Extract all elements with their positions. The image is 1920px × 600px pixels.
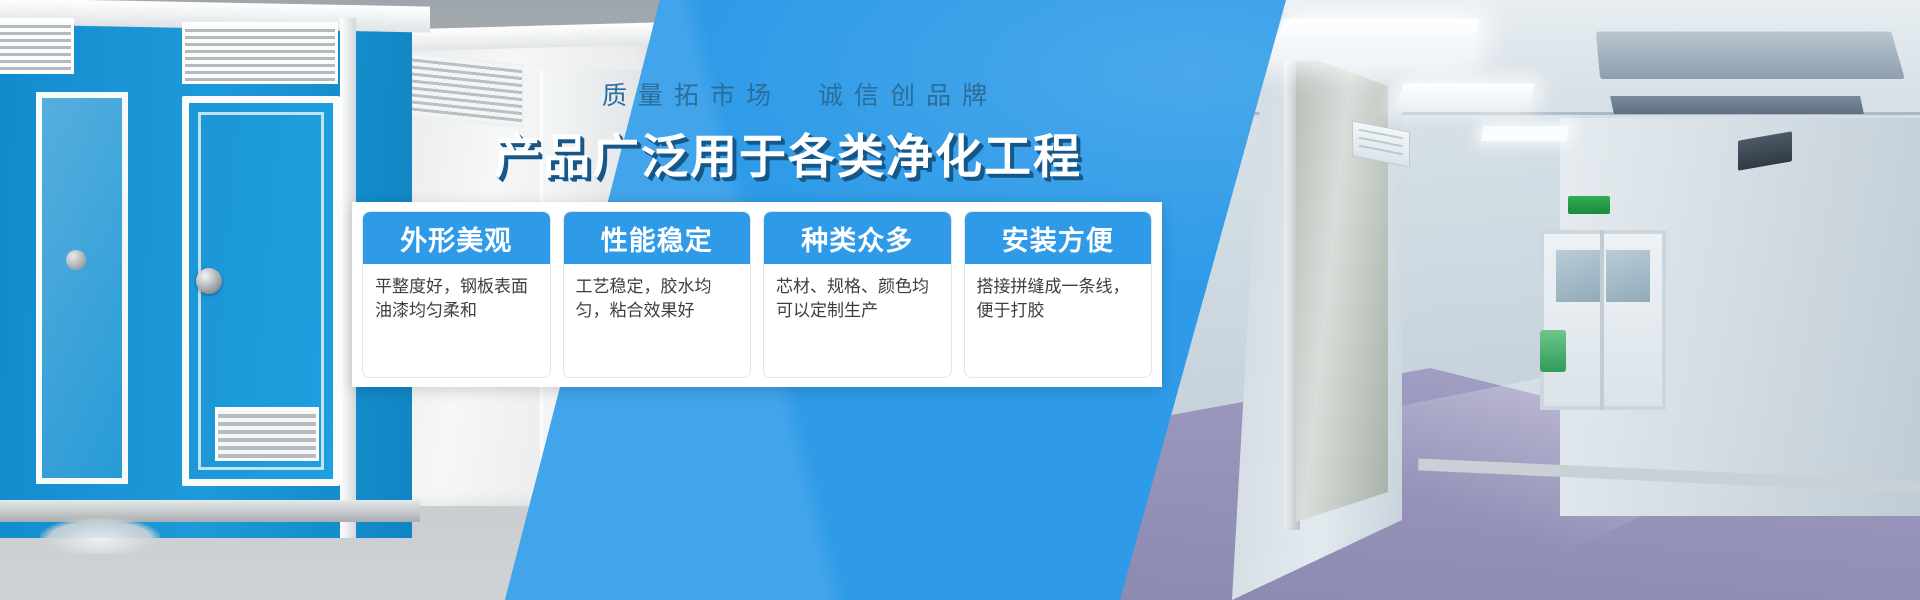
photo-right-duct-upper: [1596, 32, 1905, 80]
photo-left-window-latch: [66, 250, 86, 270]
photo-right-ceiling-lamp-1: [1268, 18, 1480, 60]
photo-right-near-door: [1296, 52, 1388, 522]
photo-right-ceiling-lamp-2: [1396, 84, 1534, 107]
photo-left-far-vent: [404, 52, 524, 129]
feature-card[interactable]: 外形美观 平整度好，钢板表面油漆均匀柔和: [362, 211, 551, 378]
feature-card-title: 种类众多: [764, 212, 951, 264]
photo-left-window-frame: [36, 92, 128, 484]
photo-left-ground-debris: [40, 518, 160, 554]
promo-banner: 质量拓市场 诚信创品牌 产品广泛用于各类净化工程 外形美观 平整度好，钢板表面油…: [0, 0, 1920, 600]
photo-right-far-door-split: [1600, 230, 1604, 410]
photo-left-vent-primary: [182, 22, 338, 84]
feature-card-title: 安装方便: [965, 212, 1152, 264]
photo-right-ceiling-lamp-3: [1481, 126, 1570, 141]
feature-card-desc: 搭接拼缝成一条线，便于打胶: [965, 264, 1152, 377]
photo-left-door-louver: [215, 407, 319, 461]
feature-panel: 外形美观 平整度好，钢板表面油漆均匀柔和 性能稳定 工艺稳定，胶水均匀，粘合效果…: [352, 202, 1162, 387]
feature-card[interactable]: 种类众多 芯材、规格、颜色均可以定制生产: [763, 211, 952, 378]
feature-card-title: 外形美观: [363, 212, 550, 264]
photo-right-exit-sign: [1568, 196, 1610, 214]
feature-card-desc: 芯材、规格、颜色均可以定制生产: [764, 264, 951, 377]
photo-right-duct-lower: [1610, 96, 1864, 114]
feature-card[interactable]: 性能稳定 工艺稳定，胶水均匀，粘合效果好: [563, 211, 752, 378]
feature-card-desc: 工艺稳定，胶水均匀，粘合效果好: [564, 264, 751, 377]
photo-right-green-equipment: [1540, 330, 1566, 372]
feature-card-list: 外形美观 平整度好，钢板表面油漆均匀柔和 性能稳定 工艺稳定，胶水均匀，粘合效果…: [352, 202, 1162, 387]
feature-card-title: 性能稳定: [564, 212, 751, 264]
photo-left-door-handle: [196, 268, 222, 294]
photo-left-vent-secondary: [0, 18, 74, 74]
feature-card[interactable]: 安装方便 搭接拼缝成一条线，便于打胶: [964, 211, 1153, 378]
feature-card-desc: 平整度好，钢板表面油漆均匀柔和: [363, 264, 550, 377]
photo-right-wall-sign-text: [1359, 129, 1403, 160]
